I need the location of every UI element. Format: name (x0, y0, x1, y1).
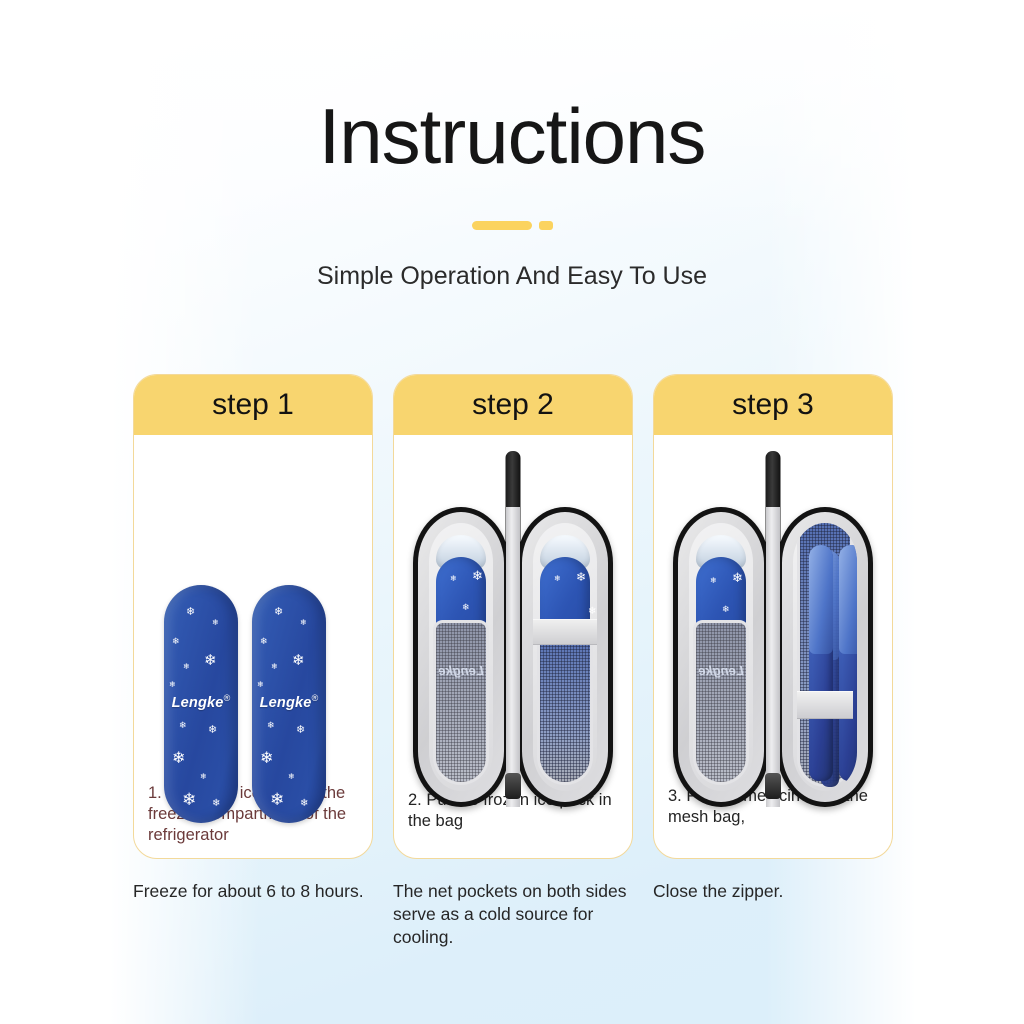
snowflake-icon: ❄ (172, 637, 180, 646)
case-inner-right (793, 523, 857, 791)
insulin-pen-1 (809, 545, 833, 781)
snowflake-icon: ❄ (588, 607, 596, 617)
mesh-pocket-left: Lengke (433, 620, 489, 785)
snowflake-icon: ❄ (576, 571, 586, 583)
mesh-pocket-left: Lengke (693, 620, 749, 785)
case-inner-right: ❄ ❄ ❄ (533, 523, 597, 791)
case-half-left: ❄ ❄ ❄ Lengke (413, 507, 509, 807)
snowflake-icon: ❄ (172, 751, 185, 767)
snowflake-icon: ❄ (260, 637, 268, 646)
snowflake-icon: ❄ (208, 725, 217, 736)
zipper-pull (765, 773, 781, 799)
step-1-note: Freeze for about 6 to 8 hours. (133, 880, 373, 1010)
snowflake-icon: ❄ (296, 725, 305, 736)
snowflake-icon: ❄ (472, 569, 483, 582)
case-shell: ❄ ❄ ❄ Lengke (673, 507, 873, 807)
case-inner-left: ❄ ❄ ❄ Lengke (429, 523, 493, 791)
case-lining-right: ❄ ❄ ❄ (522, 512, 608, 802)
snowflake-icon: ❄ (200, 773, 207, 781)
brand-label-mirrored: Lengke (436, 663, 486, 678)
open-case-with-pens-illustration: ❄ ❄ ❄ Lengke (654, 435, 892, 786)
snowflake-icon: ❄ (288, 773, 295, 781)
page-subtitle: Simple Operation And Easy To Use (0, 262, 1024, 291)
step-3-figure: ❄ ❄ ❄ Lengke (654, 435, 892, 786)
case-inner-left: ❄ ❄ ❄ Lengke (689, 523, 753, 791)
case-half-left: ❄ ❄ ❄ Lengke (673, 507, 769, 807)
step-2-note: The net pockets on both sides serve as a… (393, 880, 633, 1010)
case-lining-right (782, 512, 868, 802)
step-notes-container: Freeze for about 6 to 8 hours. The net p… (133, 880, 923, 1010)
elastic-strap-right (533, 619, 597, 645)
snowflake-icon: ❄ (271, 663, 278, 671)
step-3-header: step 3 (654, 375, 892, 435)
snowflake-icon: ❄ (182, 791, 196, 808)
pen-cap (809, 545, 833, 654)
insulin-pens-group (799, 545, 851, 781)
ice-pack-left: ❄ ❄ ❄ ❄ ❄ ❄ Lengke® ❄ ❄ ❄ ❄ ❄ ❄ (164, 585, 238, 823)
snowflake-icon: ❄ (554, 575, 561, 583)
snowflake-icon: ❄ (186, 607, 195, 618)
accent-bar (472, 221, 532, 230)
brand-label: Lengke® (164, 693, 238, 711)
snowflake-icon: ❄ (722, 605, 730, 614)
elastic-strap-pens (797, 691, 853, 719)
title-accent-divider (0, 221, 1024, 230)
snowflake-icon: ❄ (270, 791, 284, 808)
snowflake-icon: ❄ (260, 751, 273, 767)
snowflake-icon: ❄ (267, 721, 275, 730)
snowflake-icon: ❄ (292, 653, 305, 668)
snowflake-icon: ❄ (710, 577, 717, 585)
step-1-figure: ❄ ❄ ❄ ❄ ❄ ❄ Lengke® ❄ ❄ ❄ ❄ ❄ ❄ (134, 435, 372, 783)
snowflake-icon: ❄ (204, 653, 217, 668)
snowflake-icon: ❄ (462, 603, 470, 612)
snowflake-icon: ❄ (450, 575, 457, 583)
case-lining-left: ❄ ❄ ❄ Lengke (418, 512, 504, 802)
open-case-illustration: ❄ ❄ ❄ Lengke (394, 435, 632, 790)
insulin-pen-2 (839, 545, 857, 781)
ice-pack-right: ❄ ❄ ❄ ❄ ❄ ❄ Lengke® ❄ ❄ ❄ ❄ ❄ ❄ (252, 585, 326, 823)
snowflake-icon: ❄ (212, 799, 220, 809)
step-3-note: Close the zipper. (653, 880, 893, 1010)
case-lining-left: ❄ ❄ ❄ Lengke (678, 512, 764, 802)
steps-container: step 1 ❄ ❄ ❄ ❄ ❄ ❄ Lengke® ❄ ❄ ❄ ❄ (133, 374, 893, 859)
zipper-pull (505, 773, 521, 799)
case-half-right (777, 507, 873, 807)
case-half-right: ❄ ❄ ❄ (517, 507, 613, 807)
snowflake-icon: ❄ (274, 607, 283, 618)
case-shell: ❄ ❄ ❄ Lengke (413, 507, 613, 807)
snowflake-icon: ❄ (300, 799, 308, 809)
zipper-track (766, 507, 780, 807)
step-2-figure: ❄ ❄ ❄ Lengke (394, 435, 632, 790)
snowflake-icon: ❄ (732, 571, 743, 584)
snowflake-icon: ❄ (183, 663, 190, 671)
snowflake-icon: ❄ (300, 619, 307, 627)
brand-label: Lengke® (252, 693, 326, 711)
snowflake-icon: ❄ (257, 681, 264, 689)
snowflake-icon: ❄ (169, 681, 176, 689)
step-1-header: step 1 (134, 375, 372, 435)
ice-packs-illustration: ❄ ❄ ❄ ❄ ❄ ❄ Lengke® ❄ ❄ ❄ ❄ ❄ ❄ (134, 435, 372, 783)
step-card-3: step 3 ❄ ❄ ❄ (653, 374, 893, 859)
step-card-2: step 2 ❄ ❄ ❄ (393, 374, 633, 859)
snowflake-icon: ❄ (179, 721, 187, 730)
brand-label-mirrored: Lengke (696, 663, 746, 678)
snowflake-icon: ❄ (212, 619, 219, 627)
pen-cap (839, 545, 857, 654)
instructions-poster: Instructions Simple Operation And Easy T… (0, 0, 1024, 1024)
page-title: Instructions (0, 96, 1024, 178)
step-card-1: step 1 ❄ ❄ ❄ ❄ ❄ ❄ Lengke® ❄ ❄ ❄ ❄ (133, 374, 373, 859)
accent-dot (539, 221, 553, 230)
zipper-track (506, 507, 520, 807)
step-2-header: step 2 (394, 375, 632, 435)
